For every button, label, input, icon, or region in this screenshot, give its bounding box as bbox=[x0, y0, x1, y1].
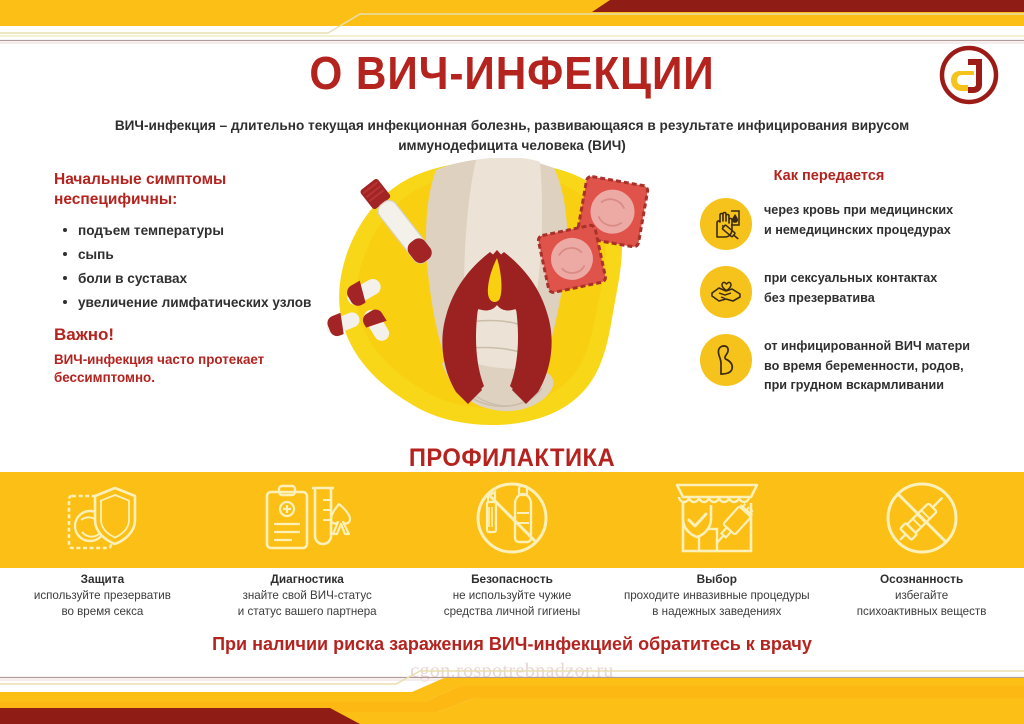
prevention-item-line: во время секса bbox=[6, 604, 199, 620]
clipboard-testtube-ribbon-icon bbox=[261, 482, 353, 559]
prevention-icon-cell bbox=[0, 482, 205, 559]
prevention-icon-cell bbox=[410, 480, 615, 561]
prevention-item-line: используйте презерватив bbox=[6, 588, 199, 604]
transmission-line: через кровь при медицинских bbox=[764, 201, 953, 221]
prevention-item-line: средства личной гигиены bbox=[416, 604, 609, 620]
verified-clinic-icon bbox=[671, 479, 763, 562]
symptoms-list: подъем температуры сыпь боли в суставах … bbox=[54, 222, 316, 312]
symptoms-heading: Начальные симптомы неспецифичны: bbox=[54, 170, 316, 210]
bottom-decoration bbox=[0, 668, 1024, 724]
list-item: сыпь bbox=[60, 246, 316, 263]
prevention-item-title: Защита bbox=[6, 572, 199, 586]
prevention-icon-cell bbox=[614, 479, 819, 562]
prevention-item-line: не используйте чужие bbox=[416, 588, 609, 604]
transmission-item: при сексуальных контактах без презервати… bbox=[700, 266, 1000, 318]
prevention-item-title: Диагностика bbox=[211, 572, 404, 586]
transmission-line: во время беременности, родов, bbox=[764, 357, 970, 377]
poster-root: О ВИЧ-ИНФЕКЦИИ ВИЧ-инфекция – длительно … bbox=[0, 0, 1024, 724]
prevention-icons-row bbox=[0, 472, 1024, 568]
transmission-item-text: через кровь при медицинских и немедицинс… bbox=[764, 198, 953, 240]
prevention-item: Выбор проходите инвазивные процедуры в н… bbox=[614, 572, 819, 620]
prevention-item: Безопасность не используйте чужие средст… bbox=[410, 572, 615, 620]
prevention-icon-cell bbox=[205, 482, 410, 559]
transmission-line: и немедицинских процедурах bbox=[764, 221, 953, 241]
transmission-line: при сексуальных контактах bbox=[764, 269, 937, 289]
transmission-item: от инфицированной ВИЧ матери во время бе… bbox=[700, 334, 1000, 396]
prevention-item: Осознанность избегайте психоактивных вещ… bbox=[819, 572, 1024, 620]
transmission-line: без презерватива bbox=[764, 289, 937, 309]
important-text: ВИЧ-инфекция часто протекает бессимптомн… bbox=[54, 351, 316, 386]
prevention-item: Диагностика знайте свой ВИЧ-статус и ста… bbox=[205, 572, 410, 620]
prevention-item-line: психоактивных веществ bbox=[825, 604, 1018, 620]
prevention-labels-row: Защита используйте презерватив во время … bbox=[0, 572, 1024, 620]
transmission-item-text: от инфицированной ВИЧ матери во время бе… bbox=[764, 334, 970, 396]
transmission-item-text: при сексуальных контактах без презервати… bbox=[764, 266, 937, 308]
list-item: подъем температуры bbox=[60, 222, 316, 239]
prevention-item-line: и статус вашего партнера bbox=[211, 604, 404, 620]
no-personal-hygiene-icon bbox=[469, 480, 555, 561]
transmission-line: от инфицированной ВИЧ матери bbox=[764, 337, 970, 357]
handshake-heart-icon bbox=[700, 266, 752, 318]
transmission-heading: Как передается bbox=[700, 168, 1000, 184]
page-title: О ВИЧ-ИНФЕКЦИИ bbox=[41, 46, 983, 100]
transmission-line: при грудном вскармливании bbox=[764, 376, 970, 396]
prevention-item-title: Осознанность bbox=[825, 572, 1018, 586]
hands-holding-red-ribbon-illustration bbox=[318, 158, 686, 440]
prevention-item: Защита используйте презерватив во время … bbox=[0, 572, 205, 620]
transmission-column: Как передается через кровь при медицинск… bbox=[700, 168, 1000, 412]
hand-syringe-blood-icon bbox=[700, 198, 752, 250]
condom-shield-icon bbox=[63, 482, 141, 559]
transmission-item: через кровь при медицинских и немедицинс… bbox=[700, 198, 1000, 250]
call-to-action: При наличии риска заражения ВИЧ-инфекцие… bbox=[0, 634, 1024, 655]
prevention-item-line: проходите инвазивные процедуры bbox=[620, 588, 813, 604]
prevention-heading: ПРОФИЛАКТИКА bbox=[26, 444, 999, 473]
prevention-icon-cell bbox=[819, 480, 1024, 561]
prevention-item-line: в надежных заведениях bbox=[620, 604, 813, 620]
list-item: боли в суставах bbox=[60, 270, 316, 287]
pregnant-woman-icon bbox=[700, 334, 752, 386]
symptoms-column: Начальные симптомы неспецифичны: подъем … bbox=[54, 170, 316, 387]
prevention-item-title: Выбор bbox=[620, 572, 813, 586]
no-syringe-icon bbox=[881, 480, 963, 561]
intro-paragraph: ВИЧ-инфекция – длительно текущая инфекци… bbox=[64, 116, 960, 155]
rospotrebnadzor-logo bbox=[938, 44, 1000, 106]
prevention-item-title: Безопасность bbox=[416, 572, 609, 586]
important-heading: Важно! bbox=[54, 325, 316, 345]
prevention-item-line: знайте свой ВИЧ-статус bbox=[211, 588, 404, 604]
prevention-item-line: избегайте bbox=[825, 588, 1018, 604]
list-item: увеличение лимфатических узлов bbox=[60, 294, 316, 311]
